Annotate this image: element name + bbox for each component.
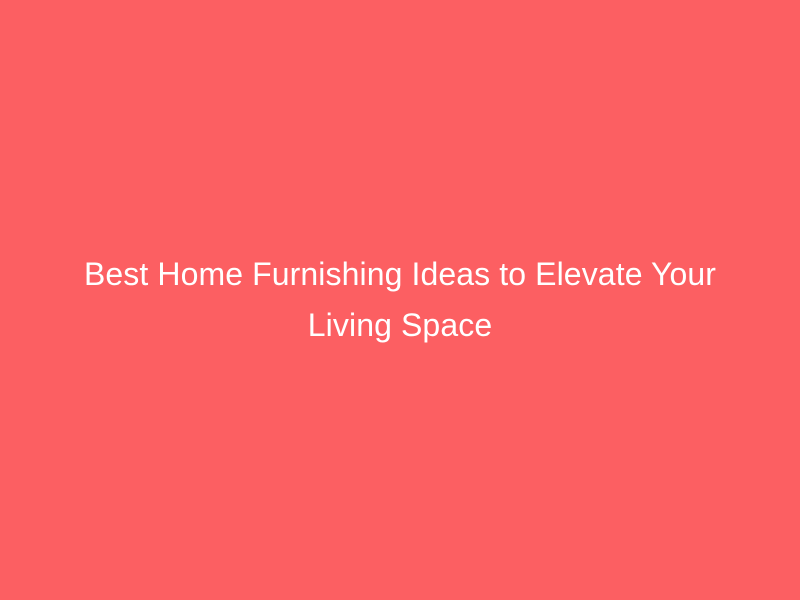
page-title: Best Home Furnishing Ideas to Elevate Yo… (50, 249, 750, 351)
banner-content: Best Home Furnishing Ideas to Elevate Yo… (50, 249, 750, 351)
hero-banner: Best Home Furnishing Ideas to Elevate Yo… (0, 0, 800, 600)
